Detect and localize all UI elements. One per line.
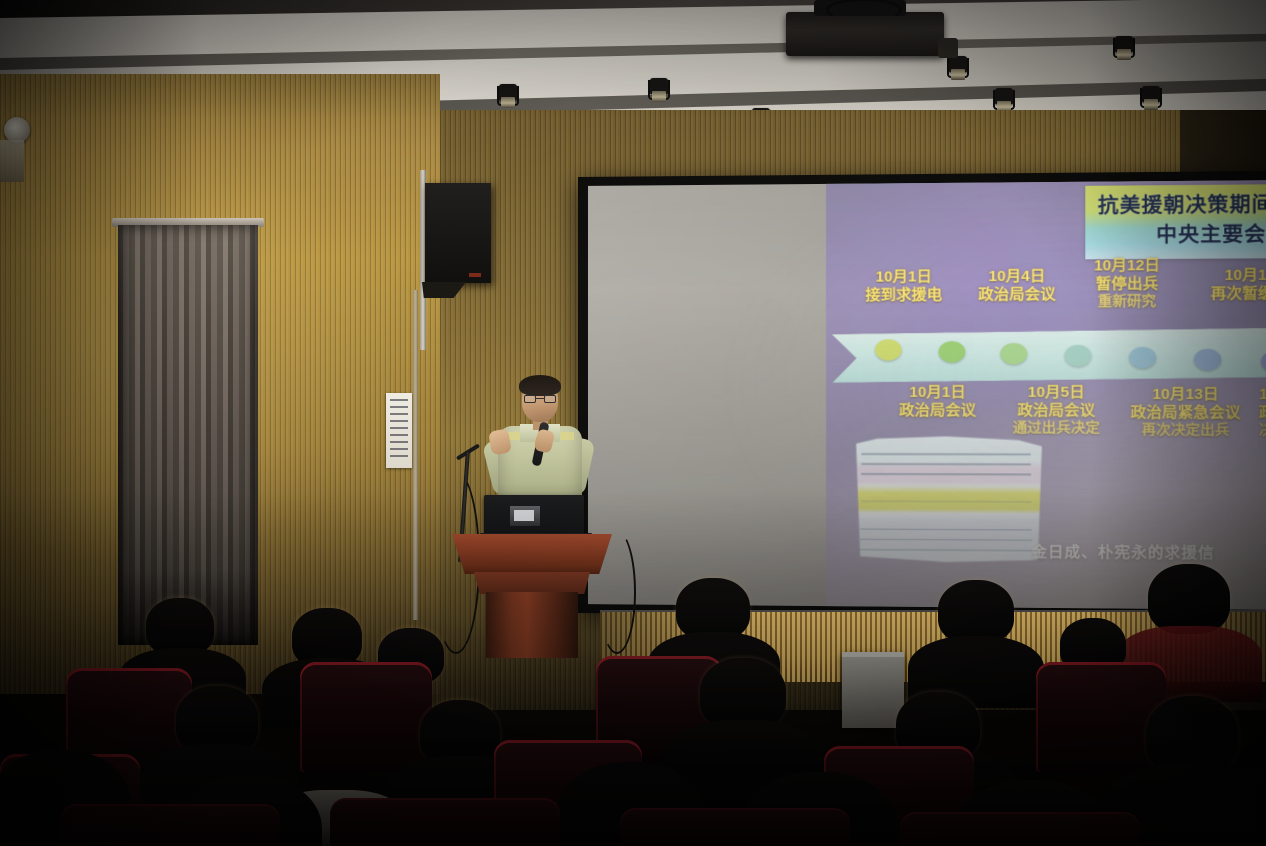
- timeline-dot: [1000, 343, 1027, 364]
- slide-title-banner: 抗美援朝决策期间 中央主要会议: [1085, 184, 1266, 260]
- timeline-label-below: 10月1日 政治局会议: [877, 384, 998, 420]
- ceiling-spotlight-icon: [1113, 36, 1135, 66]
- timeline-dot: [1065, 345, 1092, 366]
- slide-title-line2: 中央主要会议: [1156, 217, 1266, 248]
- timeline-label-below: 10月5日 政治局会议 通过出兵决定: [994, 384, 1118, 437]
- eyeglasses-icon: [524, 395, 556, 403]
- laptop-screen: [510, 506, 540, 526]
- timeline-label-above: 10月4日 政治局会议: [955, 267, 1079, 304]
- audience: [0, 540, 1266, 846]
- audience-head: [676, 578, 750, 640]
- wall-notice-sign: [386, 393, 412, 468]
- timeline-dot: [1261, 351, 1266, 373]
- ceiling-spotlight-icon: [947, 56, 969, 86]
- timeline-label-below: 10月13日 政治局紧急会议 再次决定出兵: [1112, 386, 1259, 439]
- presenter-hair: [519, 375, 561, 396]
- ceiling-projector-icon: [786, 12, 944, 56]
- auditorium-seat: [330, 798, 560, 846]
- audience-head: [1148, 564, 1230, 634]
- auditorium-seat: [900, 812, 1140, 846]
- projector-lens: [938, 38, 958, 58]
- lecture-hall-photo: 抗美援朝决策期间 中央主要会议 10月1日 接到求援电 10月4日 政治局会议 …: [0, 0, 1266, 846]
- timeline-ribbon: [832, 327, 1266, 383]
- wall-plate: [0, 140, 24, 182]
- ceiling-spotlight-icon: [648, 78, 670, 108]
- sign-text-lines: [390, 399, 408, 461]
- slide-title-line1: 抗美援朝决策期间: [1098, 187, 1266, 218]
- timeline-label-above: 10月12日 暂停出兵 重新研究: [1069, 257, 1186, 311]
- auditorium-seat: [60, 804, 280, 846]
- wall-loudspeaker-icon: [425, 183, 491, 283]
- presenter-rank-insignia: [558, 432, 574, 440]
- auditorium-seat: [300, 662, 432, 772]
- timeline-label-below: 10 政治 决: [1259, 386, 1266, 439]
- audience-head: [938, 580, 1014, 644]
- projector-cable: [826, 0, 902, 22]
- timeline-dot: [939, 341, 966, 362]
- presenter-left-hand: [488, 428, 512, 455]
- auditorium-seat: [620, 808, 850, 846]
- timeline-dot: [1194, 349, 1221, 371]
- presentation-laptop: [484, 495, 584, 537]
- timeline-dot: [875, 339, 902, 360]
- speaker-led: [469, 273, 481, 277]
- timeline-dot: [1129, 347, 1156, 369]
- timeline-label-above: 10月1日 接到求援电: [842, 268, 965, 304]
- auditorium-seat: [1036, 662, 1166, 772]
- timeline-label-above: 10月17日 再次暂缓出兵: [1190, 266, 1266, 303]
